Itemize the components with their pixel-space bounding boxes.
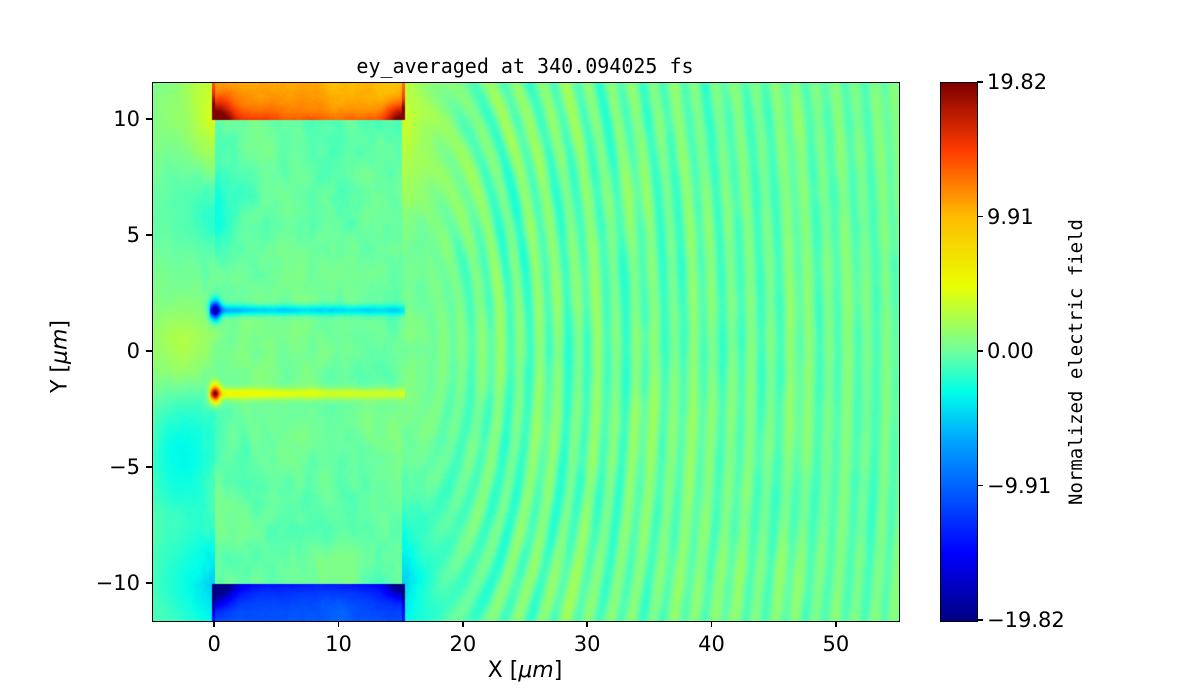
x-tick-label: 0 (207, 632, 220, 656)
plot-title: ey_averaged at 340.094025 fs (152, 54, 898, 78)
y-tick-mark (146, 466, 152, 467)
y-axis-label-text: Y [ (48, 364, 73, 393)
colorbar-tick-label: −9.91 (987, 474, 1051, 498)
x-tick-mark (586, 621, 587, 627)
colorbar-tick-label: 19.82 (987, 70, 1047, 94)
colorbar-tick-label: 0.00 (987, 339, 1034, 363)
x-tick-mark (711, 621, 712, 627)
colorbar-tick-mark (977, 485, 983, 486)
x-axis-label-close: ] (554, 658, 563, 683)
y-axis-label: Y [μm] (48, 0, 73, 700)
colorbar-tick-label: 9.91 (987, 205, 1034, 229)
y-tick-label: −10 (22, 571, 140, 595)
x-tick-mark (213, 621, 214, 627)
x-tick-label: 20 (449, 632, 476, 656)
colorbar-tick-mark (977, 216, 983, 217)
colorbar-tick-mark (977, 350, 983, 351)
x-tick-label: 40 (698, 632, 725, 656)
x-tick-mark (338, 621, 339, 627)
y-tick-label: −5 (22, 455, 140, 479)
y-tick-mark (146, 350, 152, 351)
x-tick-label: 50 (822, 632, 849, 656)
figure-canvas: ey_averaged at 340.094025 fs 01020304050… (0, 0, 1200, 700)
x-tick-label: 30 (574, 632, 601, 656)
x-axis-label-text: X [ (488, 658, 519, 683)
y-tick-mark (146, 234, 152, 235)
y-axis-unit: μm (48, 329, 73, 364)
colorbar (940, 82, 978, 622)
x-tick-label: 10 (325, 632, 352, 656)
y-tick-label: 0 (22, 339, 140, 363)
field-heatmap-image (153, 83, 899, 621)
colorbar-label: Normalized electric field (1065, 93, 1087, 631)
colorbar-tick-label: −19.82 (987, 608, 1065, 632)
colorbar-gradient (941, 83, 977, 621)
x-axis-label: X [μm] (152, 658, 898, 683)
y-axis-label-close: ] (48, 320, 73, 329)
field-heatmap-axes (152, 82, 900, 622)
colorbar-tick-mark (977, 619, 983, 620)
y-tick-mark (146, 118, 152, 119)
x-tick-mark (462, 621, 463, 627)
y-tick-mark (146, 582, 152, 583)
y-tick-label: 5 (22, 223, 140, 247)
y-tick-label: 10 (22, 107, 140, 131)
x-axis-unit: μm (518, 658, 553, 683)
colorbar-tick-mark (977, 81, 983, 82)
x-tick-mark (835, 621, 836, 627)
